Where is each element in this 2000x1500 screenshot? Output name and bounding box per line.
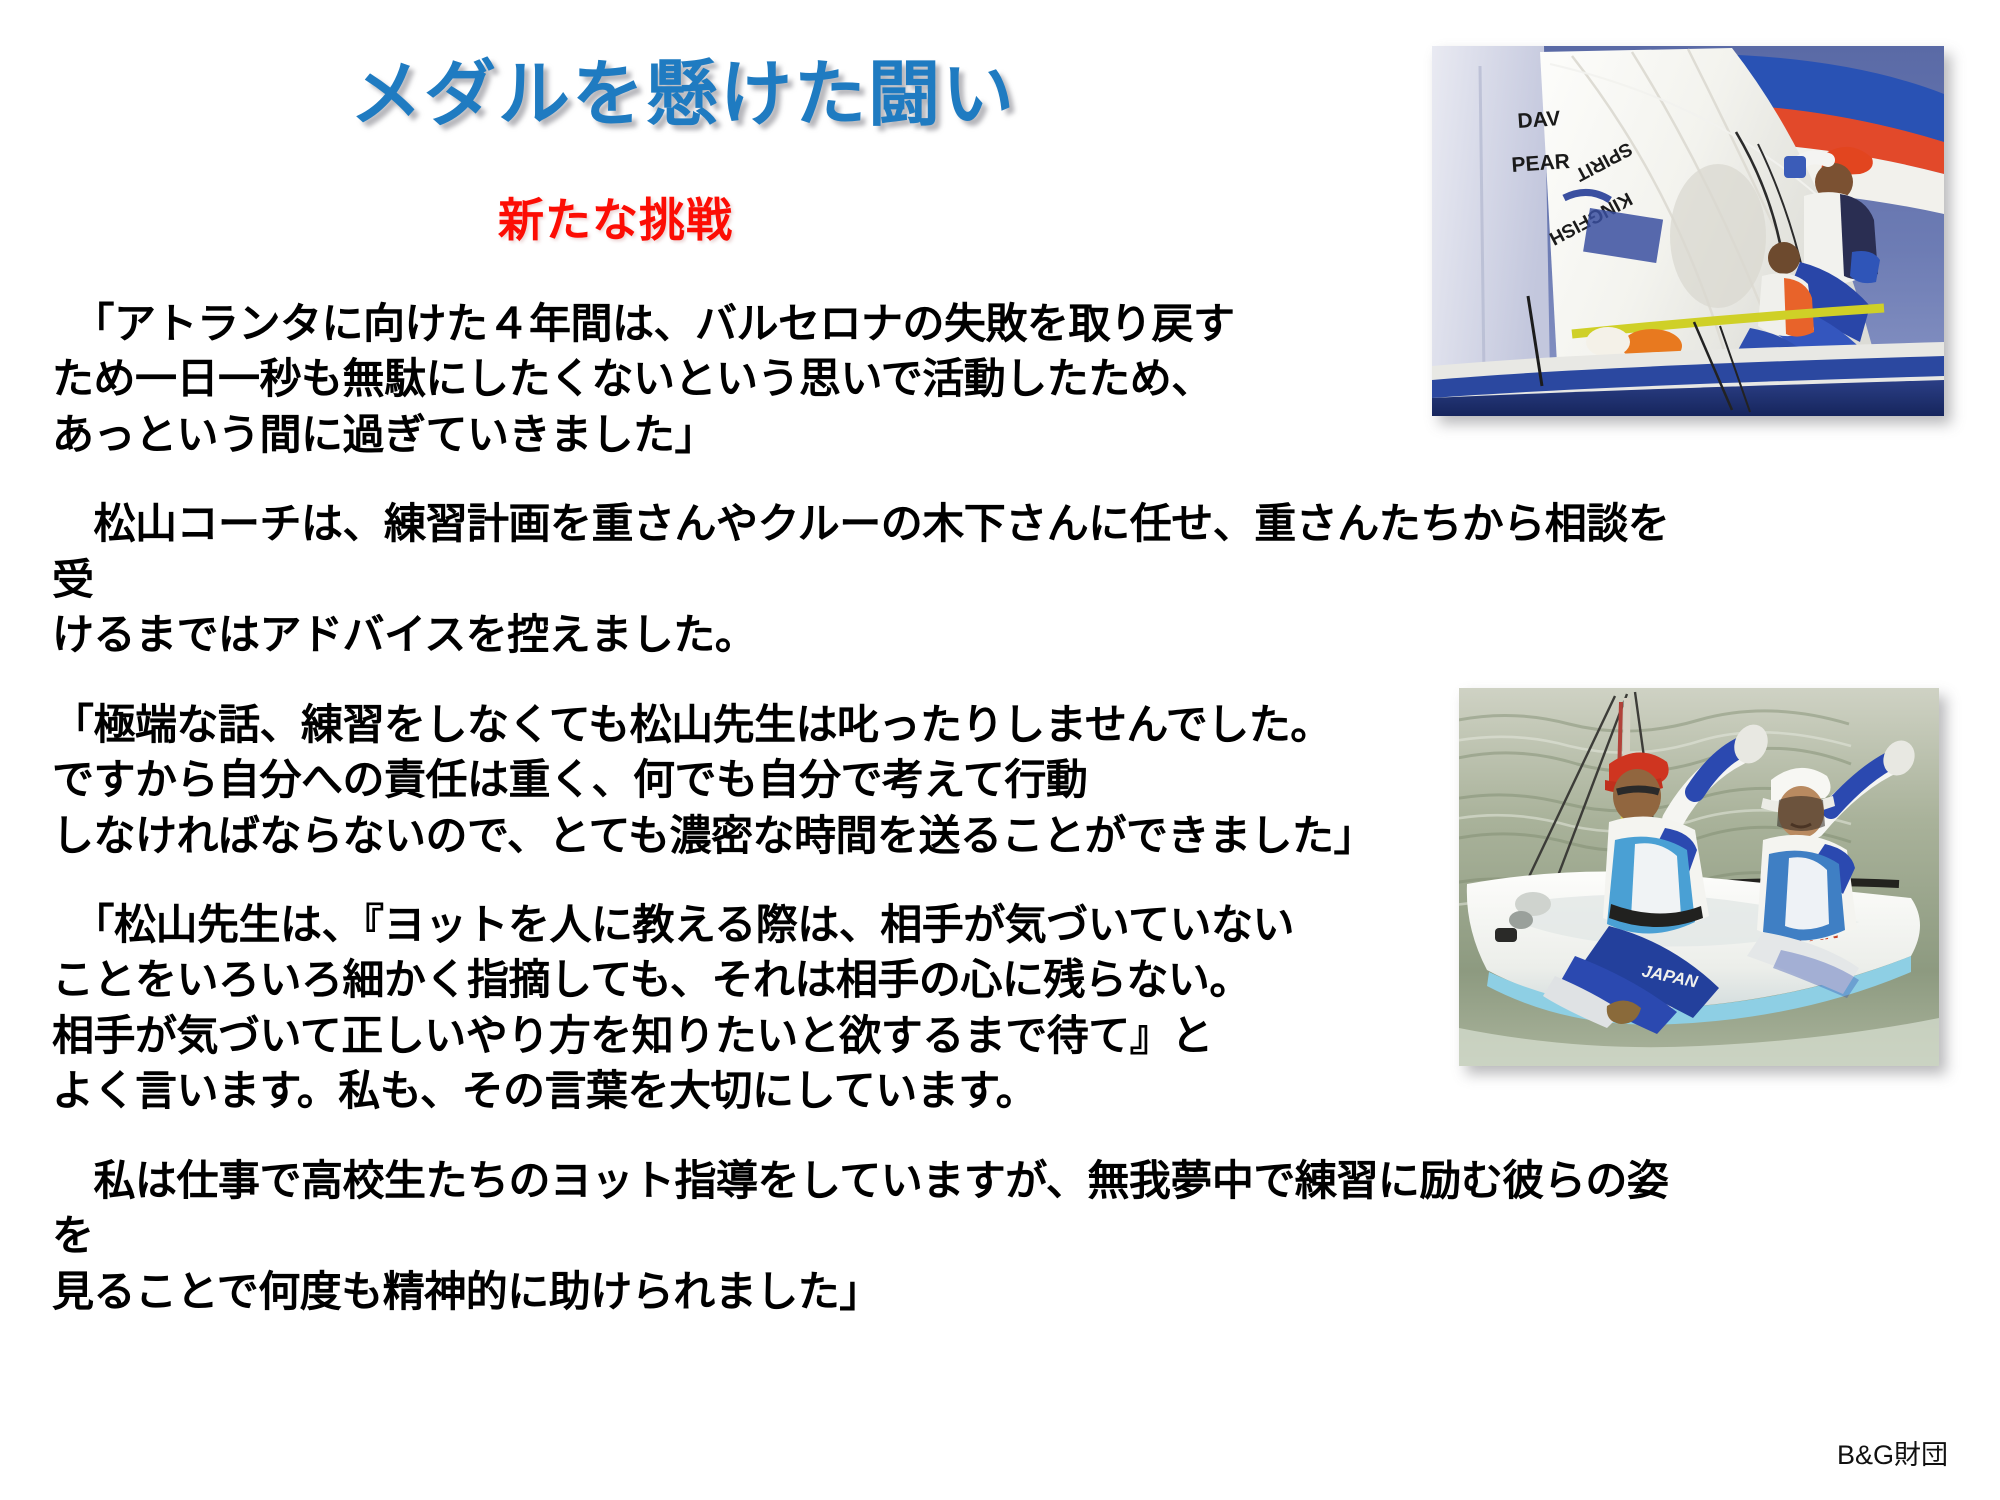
paragraph-4: 「松山先生は、『ヨットを人に教える際は、相手が気づいていない ことをいろいろ細か… — [52, 897, 1452, 1119]
slide-canvas: メダルを懸けた闘い 新たな挑戦 「アトランタに向けた４年間は、バルセロナの失敗を… — [0, 0, 2000, 1500]
paragraph-1: 「アトランタに向けた４年間は、バルセロナの失敗を取り戻す ため一日一秒も無駄にし… — [52, 296, 1382, 462]
page-subtitle: 新たな挑戦 — [498, 196, 733, 244]
sail-marking-dav: DAV — [1517, 107, 1561, 133]
japan-crew-celebration-illustration: JAPAN — [1459, 688, 1939, 1066]
paragraph-5: 私は仕事で高校生たちのヨット指導をしていますが、無我夢中で練習に励む彼らの姿を … — [52, 1153, 1702, 1319]
paragraph-3: 「極端な話、練習をしなくても松山先生は叱ったりしませんでした。 ですから自分への… — [52, 697, 1472, 863]
sailing-dinghy-upwind-illustration: DAV PEAR SPIRIT KINGFISH — [1432, 46, 1944, 416]
footer-organization: B&G財団 — [1837, 1433, 1948, 1472]
sailing-dinghy-upwind-photo: DAV PEAR SPIRIT KINGFISH — [1432, 46, 1944, 416]
sail-marking-pear: PEAR — [1511, 150, 1571, 177]
body-text-block: 「アトランタに向けた４年間は、バルセロナの失敗を取り戻す ため一日一秒も無駄にし… — [52, 296, 1692, 1319]
japan-crew-celebration-photo: JAPAN — [1459, 688, 1939, 1066]
paragraph-2: 松山コーチは、練習計画を重さんやクルーの木下さんに任せ、重さんたちから相談を受 … — [52, 496, 1692, 662]
page-title: メダルを懸けた闘い — [350, 58, 1016, 134]
